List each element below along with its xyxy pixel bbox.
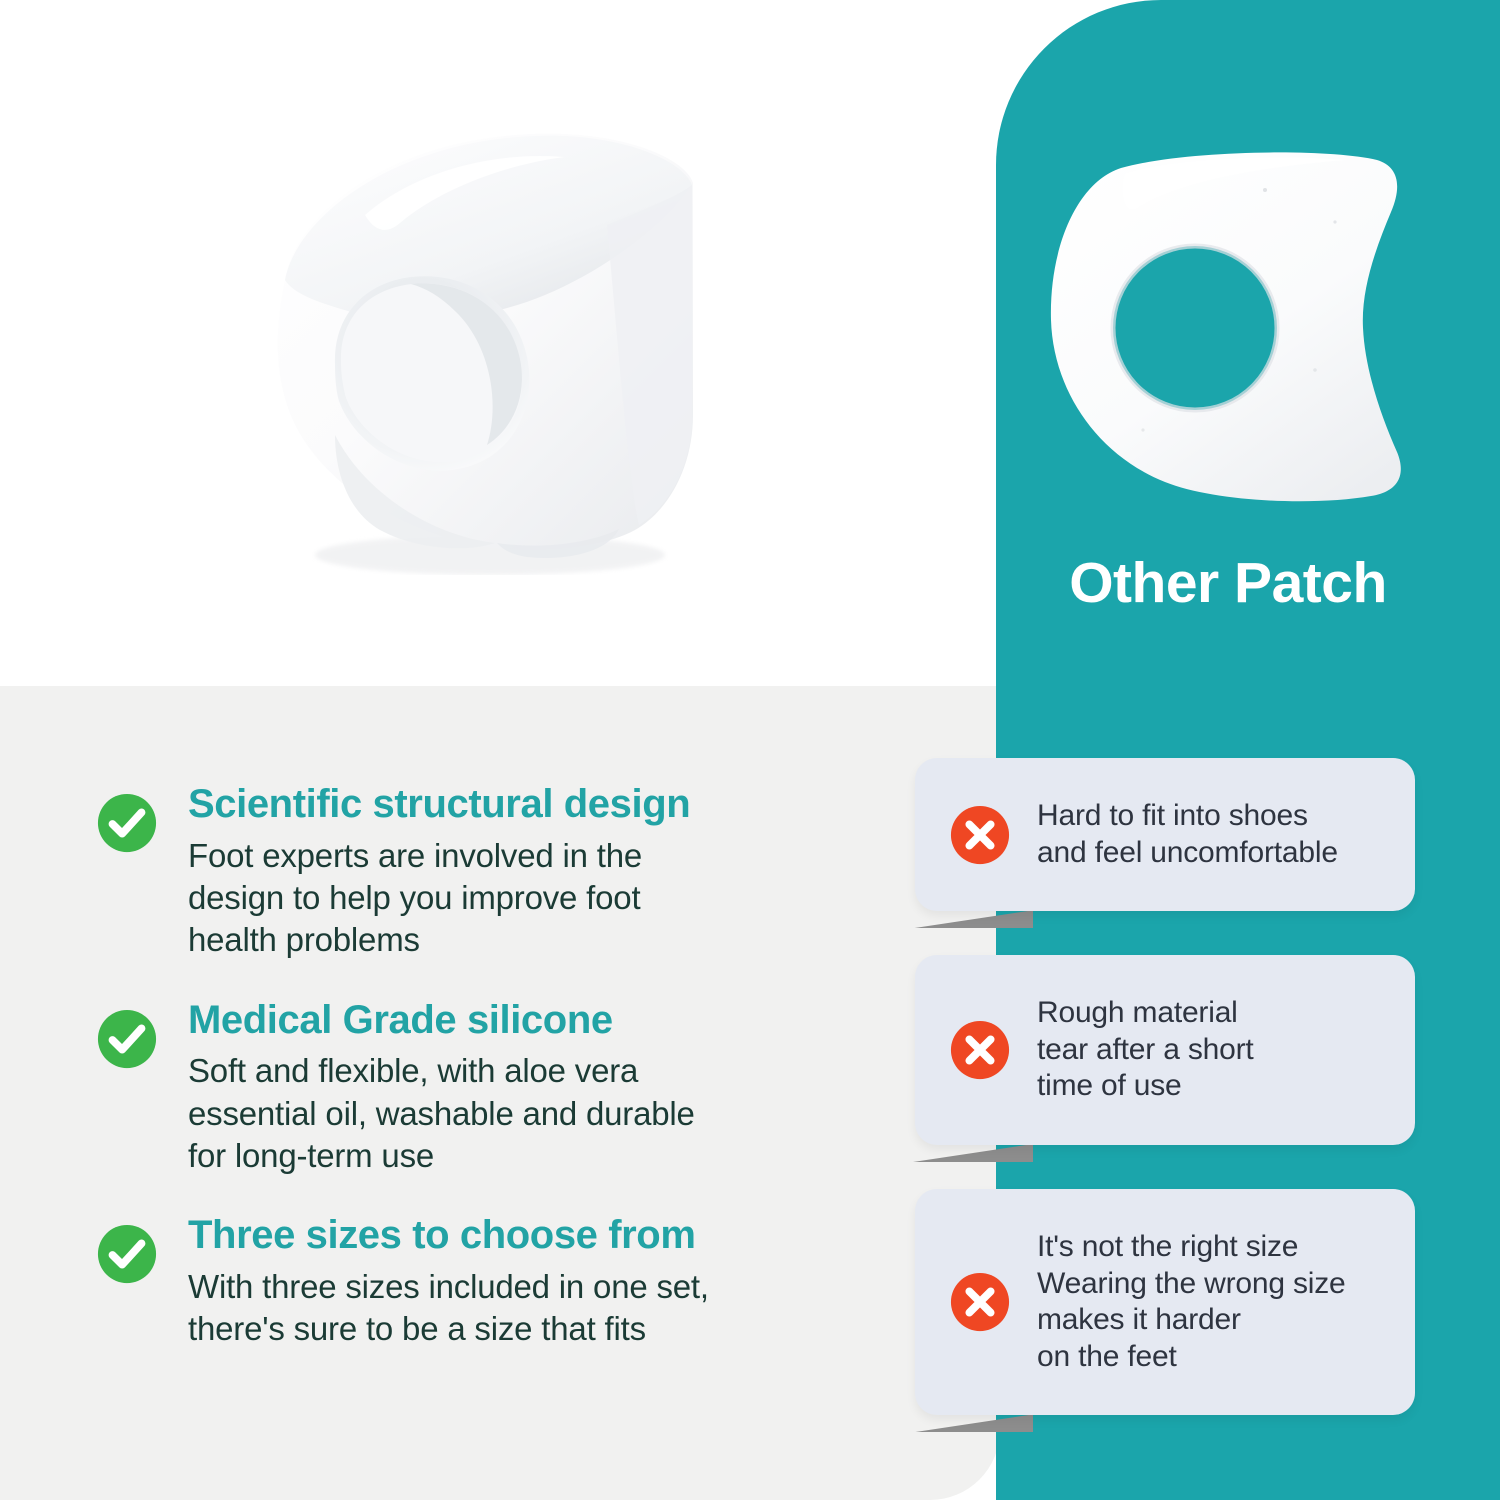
feature-item: Scientific structural design Foot expert… xyxy=(96,782,896,962)
cons-card-text: Rough material tear after a short time o… xyxy=(1037,995,1254,1105)
card-fold-shadow xyxy=(913,1144,1033,1162)
feature-body-line: With three sizes included in one set, xyxy=(188,1266,896,1308)
feature-title: Medical Grade silicone xyxy=(188,998,896,1043)
cons-card-line: and feel uncomfortable xyxy=(1037,835,1338,872)
cons-card-list: Hard to fit into shoes and feel uncomfor… xyxy=(915,758,1415,1415)
check-circle-icon xyxy=(96,792,158,854)
check-circle-icon xyxy=(96,1008,158,1070)
x-circle-icon xyxy=(949,1019,1011,1081)
feature-body: Foot experts are involved in the design … xyxy=(188,835,896,962)
feature-text: Medical Grade silicone Soft and flexible… xyxy=(188,998,896,1178)
cons-card-line: time of use xyxy=(1037,1068,1254,1105)
cons-card-line: tear after a short xyxy=(1037,1032,1254,1069)
feature-body: With three sizes included in one set, th… xyxy=(188,1266,896,1350)
check-circle-icon xyxy=(96,1223,158,1285)
feature-item: Three sizes to choose from With three si… xyxy=(96,1213,896,1350)
cons-card-line: Wearing the wrong size xyxy=(1037,1266,1346,1303)
feature-body-line: health problems xyxy=(188,919,896,961)
cons-card-text: It's not the right size Wearing the wron… xyxy=(1037,1229,1346,1375)
features-list: Scientific structural design Foot expert… xyxy=(96,782,896,1350)
feature-body-line: Soft and flexible, with aloe vera xyxy=(188,1050,896,1092)
feature-body-line: Foot experts are involved in the xyxy=(188,835,896,877)
feature-body-line: for long-term use xyxy=(188,1135,896,1177)
feature-title: Scientific structural design xyxy=(188,782,896,827)
cons-card-line: Rough material xyxy=(1037,995,1254,1032)
feature-text: Three sizes to choose from With three si… xyxy=(188,1213,896,1350)
x-circle-icon xyxy=(949,804,1011,866)
feature-body-line: there's sure to be a size that fits xyxy=(188,1308,896,1350)
feature-body-line: essential oil, washable and durable xyxy=(188,1093,896,1135)
cons-card-line: It's not the right size xyxy=(1037,1229,1346,1266)
other-product-image xyxy=(1025,130,1425,520)
cons-card-wrapper: It's not the right size Wearing the wron… xyxy=(915,1189,1415,1415)
cons-card-text: Hard to fit into shoes and feel uncomfor… xyxy=(1037,798,1338,871)
cons-card-line: makes it harder xyxy=(1037,1302,1346,1339)
cons-card-wrapper: Hard to fit into shoes and feel uncomfor… xyxy=(915,758,1415,911)
infographic-page: Other Patch Scientific structural design… xyxy=(0,0,1500,1500)
cons-card: Hard to fit into shoes and feel uncomfor… xyxy=(915,758,1415,911)
card-fold-shadow xyxy=(913,910,1033,928)
other-patch-title: Other Patch xyxy=(996,552,1460,615)
cons-card: Rough material tear after a short time o… xyxy=(915,955,1415,1145)
cons-card-line: on the feet xyxy=(1037,1339,1346,1376)
cons-card-line: Hard to fit into shoes xyxy=(1037,798,1338,835)
feature-title: Three sizes to choose from xyxy=(188,1213,896,1258)
x-circle-icon xyxy=(949,1271,1011,1333)
feature-item: Medical Grade silicone Soft and flexible… xyxy=(96,998,896,1178)
feature-body-line: design to help you improve foot xyxy=(188,877,896,919)
hero-product-image xyxy=(215,105,735,575)
feature-text: Scientific structural design Foot expert… xyxy=(188,782,896,962)
feature-body: Soft and flexible, with aloe vera essent… xyxy=(188,1050,896,1177)
cons-card-wrapper: Rough material tear after a short time o… xyxy=(915,955,1415,1145)
cons-card: It's not the right size Wearing the wron… xyxy=(915,1189,1415,1415)
